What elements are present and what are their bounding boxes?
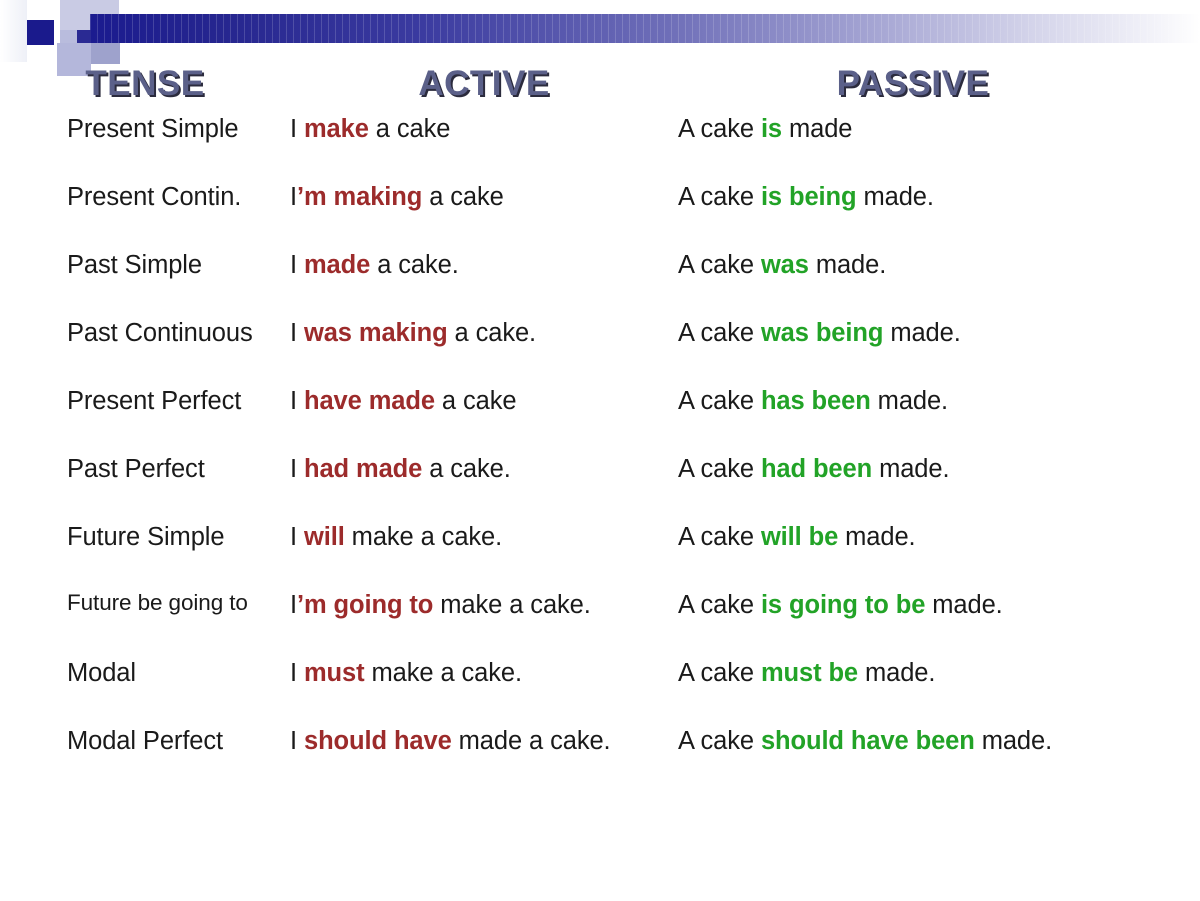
passive-verb-highlight: is bbox=[761, 115, 782, 143]
deco-square-navy bbox=[27, 20, 54, 45]
sentence-text: made. bbox=[857, 183, 934, 211]
active-verb-highlight: will bbox=[304, 523, 345, 551]
cell-tense-name: Modal Perfect bbox=[0, 726, 290, 756]
cell-tense-name: Future Simple bbox=[0, 522, 290, 552]
deco-gradient-edge bbox=[0, 0, 27, 62]
active-verb-highlight: was making bbox=[304, 319, 448, 347]
sentence-text: A cake bbox=[678, 387, 761, 415]
active-verb-highlight: have made bbox=[304, 387, 435, 415]
table-body: Present SimpleI make a cakeA cake is mad… bbox=[0, 114, 1200, 794]
table-row: Present Contin.I’m making a cakeA cake i… bbox=[0, 182, 1200, 250]
cell-active-voice: I make a cake bbox=[290, 114, 678, 144]
cell-passive-voice: A cake must be made. bbox=[678, 658, 1148, 688]
table-row: Modal PerfectI should have made a cake.A… bbox=[0, 726, 1200, 794]
deco-square-mid bbox=[91, 43, 120, 64]
cell-active-voice: I was making a cake. bbox=[290, 318, 678, 348]
sentence-text: make a cake. bbox=[345, 523, 502, 551]
sentence-text: made. bbox=[872, 455, 949, 483]
active-verb-highlight: ’m going to bbox=[297, 591, 433, 619]
slide-decoration-header bbox=[0, 0, 1200, 62]
sentence-text: A cake bbox=[678, 523, 761, 551]
passive-verb-highlight: was bbox=[761, 251, 809, 279]
sentence-text: a cake. bbox=[422, 455, 511, 483]
table-row: ModalI must make a cake.A cake must be m… bbox=[0, 658, 1200, 726]
sentence-text: made. bbox=[838, 523, 915, 551]
cell-tense-name: Past Simple bbox=[0, 250, 290, 280]
column-header-passive: PASSIVE bbox=[678, 62, 1148, 106]
sentence-text: A cake bbox=[678, 319, 761, 347]
cell-active-voice: I had made a cake. bbox=[290, 454, 678, 484]
sentence-text: I bbox=[290, 523, 304, 551]
sentence-text: made bbox=[782, 115, 852, 143]
table-row: Past SimpleI made a cake.A cake was made… bbox=[0, 250, 1200, 318]
cell-active-voice: I made a cake. bbox=[290, 250, 678, 280]
deco-gradient-bar-stripes bbox=[90, 14, 1200, 43]
sentence-text: I bbox=[290, 591, 297, 619]
sentence-text: a cake bbox=[435, 387, 517, 415]
column-header-tense: TENSE bbox=[0, 62, 290, 106]
sentence-text: A cake bbox=[678, 251, 761, 279]
active-verb-highlight: should have bbox=[304, 727, 452, 755]
cell-tense-name: Present Contin. bbox=[0, 182, 290, 212]
tense-table: TENSE ACTIVE PASSIVE Present SimpleI mak… bbox=[0, 62, 1200, 794]
sentence-text: made. bbox=[975, 727, 1052, 755]
active-verb-highlight: made bbox=[304, 251, 370, 279]
sentence-text: a cake. bbox=[448, 319, 537, 347]
sentence-text: I bbox=[290, 251, 304, 279]
sentence-text: I bbox=[290, 727, 304, 755]
sentence-text: I bbox=[290, 455, 304, 483]
cell-tense-name: Present Perfect bbox=[0, 386, 290, 416]
sentence-text: made. bbox=[883, 319, 960, 347]
sentence-text: a cake bbox=[422, 183, 504, 211]
sentence-text: make a cake. bbox=[365, 659, 522, 687]
cell-tense-name: Future be going to bbox=[0, 590, 290, 617]
cell-passive-voice: A cake was being made. bbox=[678, 318, 1148, 348]
deco-square-deep bbox=[77, 30, 91, 43]
sentence-text: I bbox=[290, 115, 304, 143]
cell-tense-name: Present Simple bbox=[0, 114, 290, 144]
table-header-row: TENSE ACTIVE PASSIVE bbox=[0, 62, 1200, 114]
passive-verb-highlight: is being bbox=[761, 183, 857, 211]
active-verb-highlight: must bbox=[304, 659, 365, 687]
cell-tense-name: Past Continuous bbox=[0, 318, 290, 348]
sentence-text: A cake bbox=[678, 591, 761, 619]
deco-square-lilac-a bbox=[60, 0, 91, 30]
cell-passive-voice: A cake is going to be made. bbox=[678, 590, 1148, 620]
sentence-text: A cake bbox=[678, 115, 761, 143]
passive-verb-highlight: should have been bbox=[761, 727, 975, 755]
cell-active-voice: I will make a cake. bbox=[290, 522, 678, 552]
sentence-text: made. bbox=[858, 659, 935, 687]
table-row: Past ContinuousI was making a cake.A cak… bbox=[0, 318, 1200, 386]
active-verb-highlight: make bbox=[304, 115, 369, 143]
sentence-text: made. bbox=[871, 387, 948, 415]
deco-square-pale-top bbox=[91, 0, 119, 14]
sentence-text: A cake bbox=[678, 455, 761, 483]
sentence-text: a cake bbox=[369, 115, 451, 143]
sentence-text: made. bbox=[925, 591, 1002, 619]
cell-passive-voice: A cake is made bbox=[678, 114, 1148, 144]
sentence-text: A cake bbox=[678, 659, 761, 687]
sentence-text: I bbox=[290, 183, 297, 211]
passive-verb-highlight: must be bbox=[761, 659, 858, 687]
cell-passive-voice: A cake was made. bbox=[678, 250, 1148, 280]
table-row: Future be going toI’m going to make a ca… bbox=[0, 590, 1200, 658]
passive-verb-highlight: has been bbox=[761, 387, 871, 415]
cell-active-voice: I’m going to make a cake. bbox=[290, 590, 678, 620]
cell-active-voice: I have made a cake bbox=[290, 386, 678, 416]
sentence-text: A cake bbox=[678, 727, 761, 755]
table-row: Past PerfectI had made a cake.A cake had… bbox=[0, 454, 1200, 522]
cell-tense-name: Modal bbox=[0, 658, 290, 688]
table-row: Present PerfectI have made a cakeA cake … bbox=[0, 386, 1200, 454]
table-row: Future SimpleI will make a cake.A cake w… bbox=[0, 522, 1200, 590]
sentence-text: a cake. bbox=[370, 251, 459, 279]
sentence-text: made. bbox=[809, 251, 886, 279]
passive-verb-highlight: is going to be bbox=[761, 591, 925, 619]
sentence-text: I bbox=[290, 319, 304, 347]
sentence-text: I bbox=[290, 659, 304, 687]
column-header-active: ACTIVE bbox=[290, 62, 678, 106]
cell-active-voice: I should have made a cake. bbox=[290, 726, 678, 756]
sentence-text: made a cake. bbox=[452, 727, 611, 755]
passive-verb-highlight: was being bbox=[761, 319, 883, 347]
active-verb-highlight: ’m making bbox=[297, 183, 422, 211]
cell-active-voice: I must make a cake. bbox=[290, 658, 678, 688]
table-row: Present SimpleI make a cakeA cake is mad… bbox=[0, 114, 1200, 182]
sentence-text: A cake bbox=[678, 183, 761, 211]
sentence-text: make a cake. bbox=[433, 591, 590, 619]
passive-verb-highlight: had been bbox=[761, 455, 872, 483]
sentence-text: I bbox=[290, 387, 304, 415]
cell-active-voice: I’m making a cake bbox=[290, 182, 678, 212]
active-verb-highlight: had made bbox=[304, 455, 422, 483]
cell-passive-voice: A cake has been made. bbox=[678, 386, 1148, 416]
passive-verb-highlight: will be bbox=[761, 523, 838, 551]
cell-passive-voice: A cake should have been made. bbox=[678, 726, 1148, 756]
cell-passive-voice: A cake is being made. bbox=[678, 182, 1148, 212]
cell-passive-voice: A cake will be made. bbox=[678, 522, 1148, 552]
cell-passive-voice: A cake had been made. bbox=[678, 454, 1148, 484]
cell-tense-name: Past Perfect bbox=[0, 454, 290, 484]
